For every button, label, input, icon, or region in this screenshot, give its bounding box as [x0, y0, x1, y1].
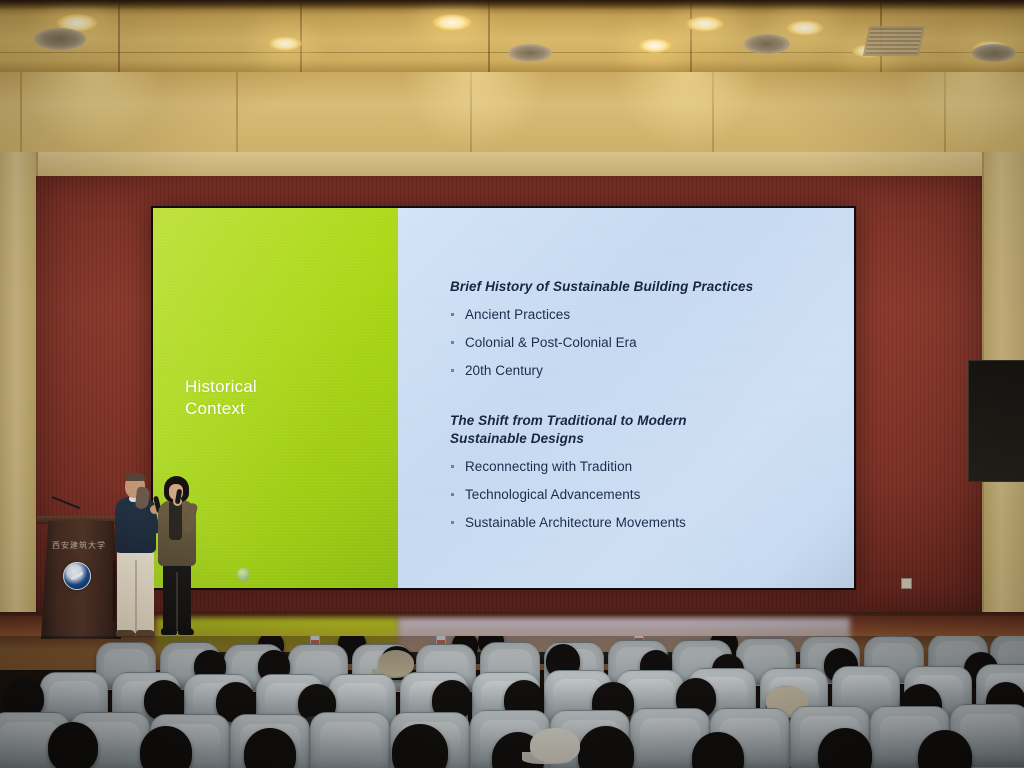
audience-cap — [378, 650, 414, 676]
slide-content-panel: Brief History of Sustainable Building Pr… — [398, 208, 854, 588]
ceiling-speaker — [34, 28, 86, 50]
presenter-right-shoe — [161, 628, 177, 635]
upper-wall — [0, 72, 1024, 152]
list-item: Sustainable Architecture Movements — [450, 514, 854, 531]
section-heading: Brief History of Sustainable Building Pr… — [450, 278, 854, 295]
ceiling-light — [686, 16, 724, 32]
seat[interactable] — [310, 712, 390, 768]
projection-screen: Historical Context Brief History of Sust… — [151, 206, 856, 590]
list-item: Reconnecting with Tradition — [450, 458, 854, 475]
list-item: Colonial & Post-Colonial Era — [450, 334, 854, 351]
left-pillar — [0, 152, 38, 632]
presentation-slide: Historical Context Brief History of Sust… — [153, 208, 854, 588]
presenter-right-scarf — [169, 500, 182, 540]
list-item: 20th Century — [450, 362, 854, 379]
ceiling-speaker — [744, 34, 790, 54]
ceiling-light — [432, 14, 472, 31]
section-bullet-list: Reconnecting with Tradition Technologica… — [450, 458, 854, 531]
podium-cable — [113, 560, 115, 622]
auditorium-scene: Historical Context Brief History of Sust… — [0, 0, 1024, 768]
ceiling-speaker — [972, 44, 1016, 62]
section-bullet-list: Ancient Practices Colonial & Post-Coloni… — [450, 306, 854, 379]
section-heading: The Shift from Traditional to Modern Sus… — [450, 412, 700, 447]
wall-outlet-plate — [901, 578, 912, 589]
ceiling-light — [786, 20, 824, 36]
slide-section-2: The Shift from Traditional to Modern Sus… — [450, 412, 854, 531]
ceiling-light — [638, 38, 672, 53]
slide-title: Historical Context — [153, 376, 257, 420]
audience-area — [0, 636, 1024, 768]
list-item: Ancient Practices — [450, 306, 854, 323]
ceiling-speaker — [508, 44, 552, 62]
ceiling — [0, 0, 1024, 72]
podium-university-name: 西安建筑大学 — [52, 540, 110, 551]
slide-title-line-1: Historical — [185, 376, 257, 398]
list-item: Technological Advancements — [450, 486, 854, 503]
audience-head — [48, 722, 98, 768]
slide-section-1: Brief History of Sustainable Building Pr… — [450, 278, 854, 379]
wall-trim — [30, 152, 988, 179]
university-crest-icon — [63, 562, 91, 590]
ceiling-vent — [863, 26, 925, 56]
presenter-right-shoe — [178, 628, 194, 635]
wall-speaker — [968, 360, 1024, 482]
audience-cap — [530, 728, 580, 762]
slide-logo-badge — [237, 568, 250, 581]
slide-title-line-2: Context — [185, 398, 257, 420]
ceiling-light — [268, 36, 302, 51]
